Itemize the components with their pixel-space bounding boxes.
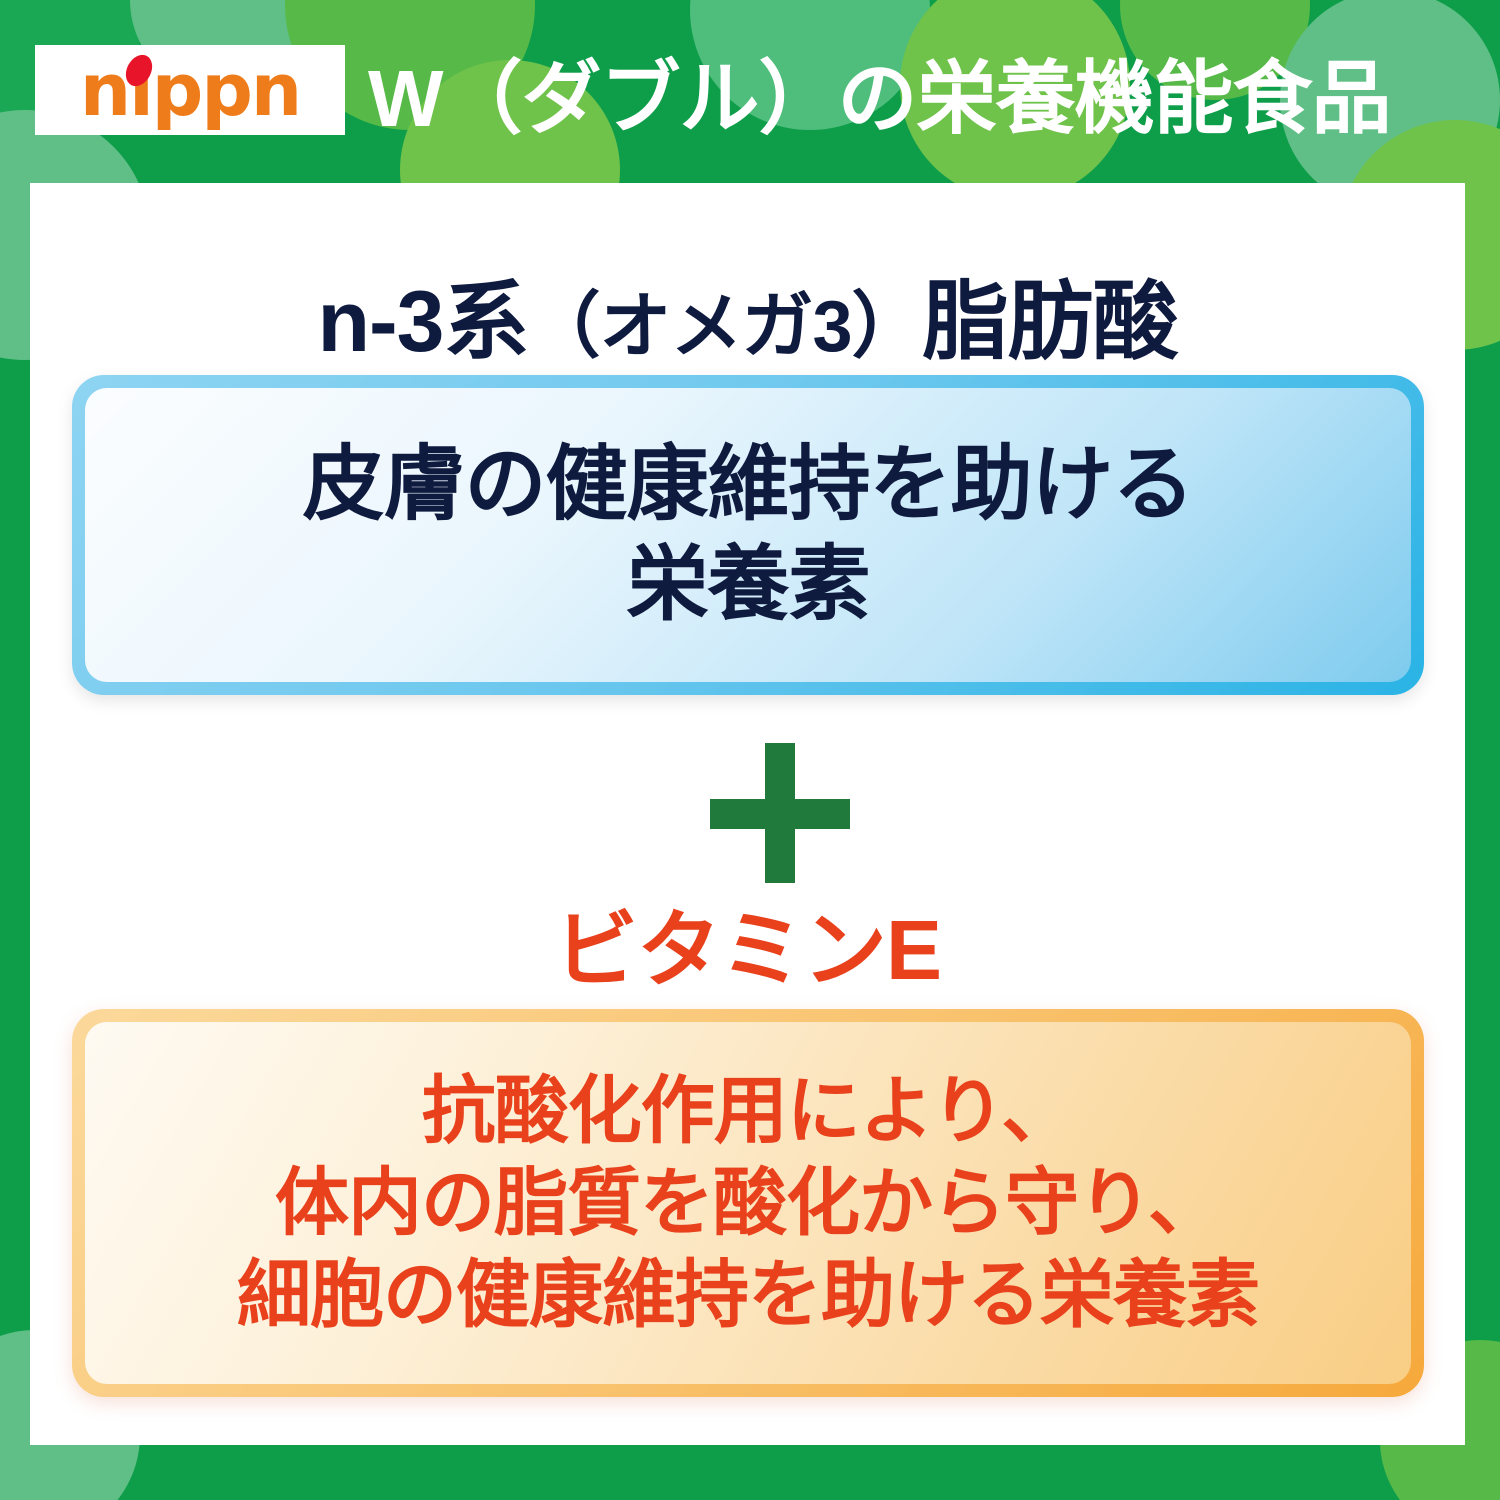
omega3-benefit-line-1: 皮膚の健康維持を助ける (302, 435, 1193, 535)
vitamin-e-benefit-line-1: 抗酸化作用により、 (237, 1065, 1259, 1157)
brand-logo[interactable]: nippn (35, 45, 345, 135)
banner-title: W（ダブル）の栄養機能食品 (368, 34, 1391, 150)
vitamin-e-benefit-line-3: 細胞の健康維持を助ける栄養素 (237, 1249, 1259, 1341)
vitamin-e-benefit-line-2: 体内の脂質を酸化から守り、 (237, 1157, 1259, 1249)
vitamin-e-benefit-text: 抗酸化作用により、 体内の脂質を酸化から守り、 細胞の健康維持を助ける栄養素 (237, 1065, 1259, 1340)
headline-paren: （オメガ3） (528, 287, 922, 367)
vitamin-e-benefit-card: 抗酸化作用により、 体内の脂質を酸化から守り、 細胞の健康維持を助ける栄養素 (72, 1009, 1424, 1397)
page-title: n-3系（オメガ3）脂肪酸 (30, 251, 1465, 376)
vitamin-e-label: ビタミンE (30, 883, 1465, 1004)
logo-wordmark: nippn (54, 54, 326, 126)
plus-icon (710, 743, 850, 883)
nutrition-poster: nippn W（ダブル）の栄養機能食品 n-3系（オメガ3）脂肪酸 皮膚の健康維… (0, 0, 1500, 1500)
omega3-benefit-text: 皮膚の健康維持を助ける 栄養素 (302, 435, 1193, 635)
headline-suffix: 脂肪酸 (923, 274, 1178, 370)
header-banner: nippn W（ダブル）の栄養機能食品 (0, 0, 1500, 183)
omega3-benefit-card: 皮膚の健康維持を助ける 栄養素 (72, 375, 1424, 695)
content-panel: n-3系（オメガ3）脂肪酸 皮膚の健康維持を助ける 栄養素 ビタミンE 抗酸化作… (30, 183, 1465, 1445)
omega3-benefit-line-2: 栄養素 (302, 535, 1193, 635)
headline-prefix: n-3系 (317, 274, 528, 370)
